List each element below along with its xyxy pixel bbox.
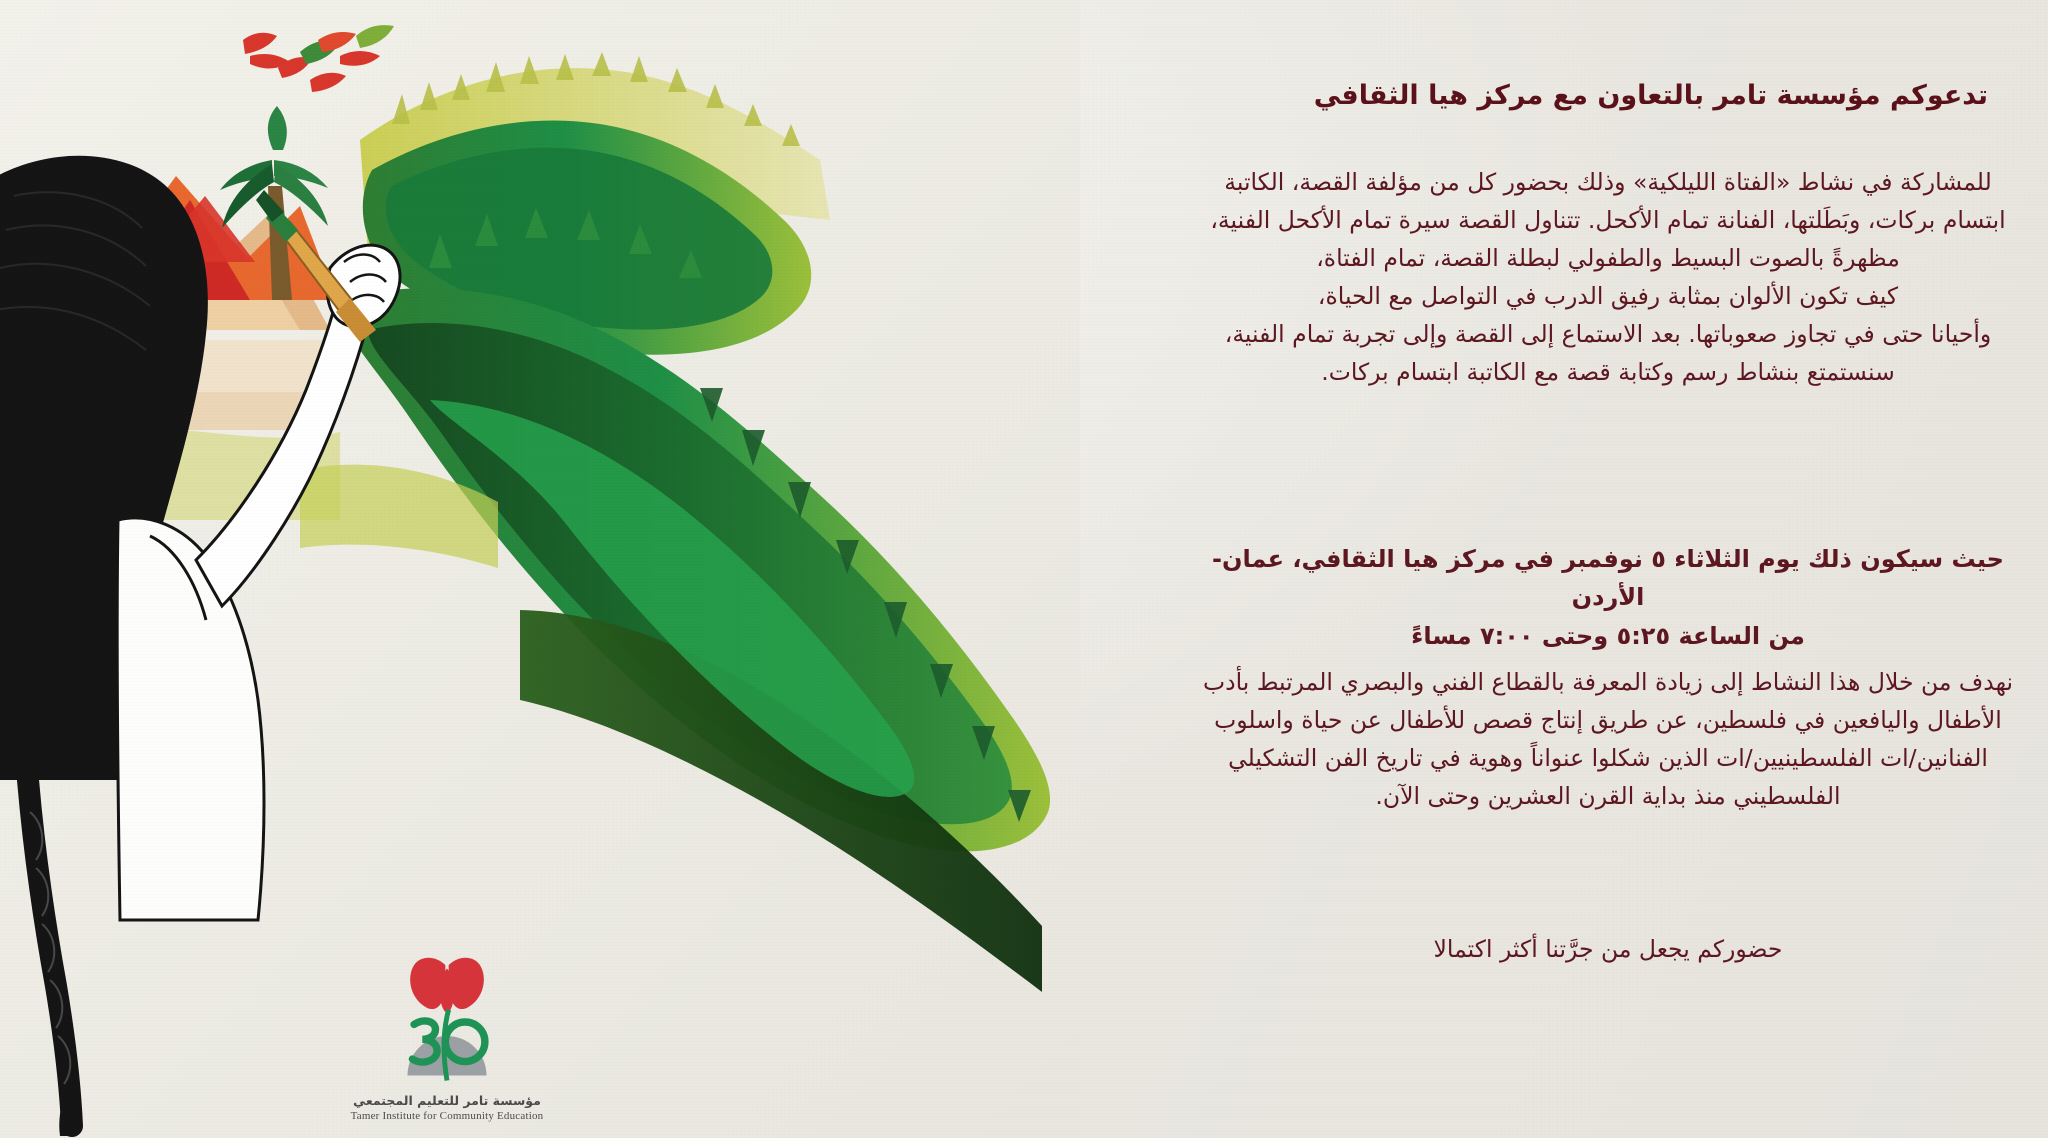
intro-line: مظهرةً بالصوت البسيط والطفولي لبطلة القص… — [1178, 239, 2038, 277]
event-time: من الساعة ٥:٢٥ وحتى ٧:٠٠ مساءً — [1178, 617, 2038, 655]
goal-line: الفنانين/ات الفلسطينيين/ات الذين شكلوا ع… — [1178, 739, 2038, 777]
intro-line: كيف تكون الألوان بمثابة رفيق الدرب في ال… — [1178, 277, 2038, 315]
logo-name-english: Tamer Institute for Community Education — [332, 1110, 562, 1122]
goal-paragraph: نهدف من خلال هذا النشاط إلى زيادة المعرف… — [1178, 663, 2038, 815]
poster-canvas: تدعوكم مؤسسة تامر بالتعاون مع مركز هيا ا… — [0, 0, 2048, 1138]
intro-line: ابتسام بركات، وبَطَلتها، الفنانة تمام ال… — [1178, 201, 2038, 239]
tamer-institute-logo: مؤسسة تامر للتعليم المجتمعي Tamer Instit… — [332, 952, 562, 1128]
goal-line: الأطفال واليافعين في فلسطين، عن طريق إنت… — [1178, 701, 2038, 739]
intro-line: وأحيانا حتى في تجاوز صعوباتها. بعد الاست… — [1178, 315, 2038, 353]
closing-line: حضوركم يجعل من جرَّتنا أكثر اكتمالا — [1178, 930, 2038, 968]
goal-line: نهدف من خلال هذا النشاط إلى زيادة المعرف… — [1178, 663, 2038, 701]
closing-text: حضوركم يجعل من جرَّتنا أكثر اكتمالا — [1178, 930, 2038, 968]
page-title: تدعوكم مؤسسة تامر بالتعاون مع مركز هيا ا… — [1228, 78, 1988, 114]
event-details: حيث سيكون ذلك يوم الثلاثاء ٥ نوفمبر في م… — [1178, 540, 2038, 655]
logo-name-arabic: مؤسسة تامر للتعليم المجتمعي — [332, 1093, 562, 1108]
tulip-30-logo-icon — [353, 952, 541, 1092]
intro-line: للمشاركة في نشاط «الفتاة الليلكية» وذلك … — [1178, 163, 2038, 201]
tulip-petals-icon — [410, 958, 484, 1013]
intro-line: سنستمتع بنشاط رسم وكتابة قصة مع الكاتبة … — [1178, 353, 2038, 391]
goal-line: الفلسطيني منذ بداية القرن العشرين وحتى ا… — [1178, 777, 2038, 815]
intro-paragraph: للمشاركة في نشاط «الفتاة الليلكية» وذلك … — [1178, 163, 2038, 391]
event-datetime-venue: حيث سيكون ذلك يوم الثلاثاء ٥ نوفمبر في م… — [1178, 540, 2038, 617]
